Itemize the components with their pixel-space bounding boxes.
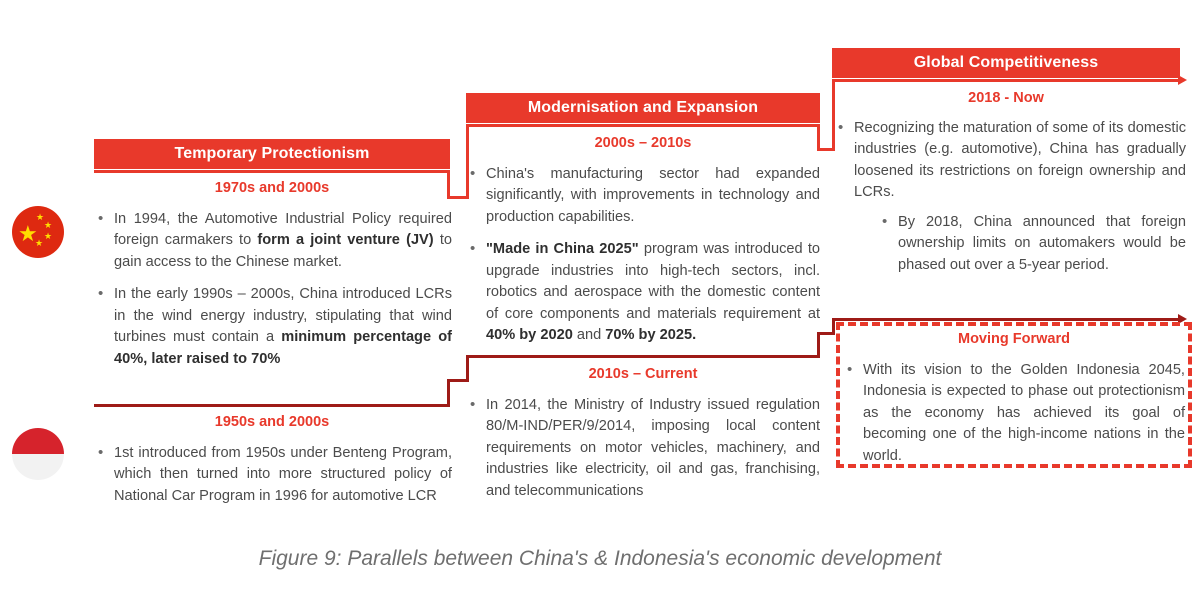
connector-line-id2-top [466, 355, 820, 358]
stage-header-modernisation-and-expansion[interactable]: Modernisation and Expansion [466, 93, 820, 123]
indonesia-flag-red-band [12, 428, 64, 454]
list-item-sub: By 2018, China announced that foreign ow… [880, 212, 1186, 276]
list-item: Recognizing the maturation of some of it… [836, 118, 1186, 204]
connector-line-id3-top [832, 318, 1180, 321]
list-item: China's manufacturing sector had expande… [468, 164, 820, 228]
connector-line-id1-top [94, 404, 450, 407]
indonesia-flag-white-band [12, 454, 64, 480]
stage-era-temporary-protectionism: 1970s and 2000s [94, 180, 450, 196]
stage-era-indonesia-early: 1950s and 2000s [94, 414, 450, 430]
stage-body-indonesia-early: 1st introduced from 1950s under Benteng … [96, 443, 452, 507]
connector-line-stage1-top [94, 170, 450, 173]
indonesia-flag-icon [12, 428, 64, 480]
list-item: "Made in China 2025" program was introdu… [468, 239, 820, 346]
list-item: In the early 1990s – 2000s, China introd… [96, 284, 452, 370]
stage-body-modernisation-and-expansion: China's manufacturing sector had expande… [468, 164, 820, 347]
stage-header-temporary-protectionism[interactable]: Temporary Protectionism [94, 139, 450, 169]
stage-era-global-competitiveness: 2018 - Now [832, 90, 1180, 106]
stage-era-indonesia-current: 2010s – Current [466, 366, 820, 382]
connector-line-stage2-top [466, 124, 820, 127]
bullet-list: China's manufacturing sector had expande… [468, 164, 820, 347]
stage-body-indonesia-current: In 2014, the Ministry of Industry issued… [468, 395, 820, 502]
bullet-list: In 2014, the Ministry of Industry issued… [468, 395, 820, 502]
list-item: In 1994, the Automotive Industrial Polic… [96, 209, 452, 273]
list-item: In 2014, the Ministry of Industry issued… [468, 395, 820, 502]
figure-caption: Figure 9: Parallels between China's & In… [0, 547, 1200, 571]
stage-body-global-competitiveness: Recognizing the maturation of some of it… [836, 118, 1186, 276]
list-item: 1st introduced from 1950s under Benteng … [96, 443, 452, 507]
connector-line-stage3-top [832, 79, 1180, 82]
bullet-list: 1st introduced from 1950s under Benteng … [96, 443, 452, 507]
china-flag-icon: ★ ★ ★ ★ ★ [12, 206, 64, 258]
stage-era-modernisation-and-expansion: 2000s – 2010s [466, 135, 820, 151]
stage-body-moving-forward: With its vision to the Golden Indonesia … [845, 360, 1185, 467]
stage-body-temporary-protectionism: In 1994, the Automotive Industrial Polic… [96, 209, 452, 370]
stage-header-global-competitiveness[interactable]: Global Competitiveness [832, 48, 1180, 78]
bullet-list: Recognizing the maturation of some of it… [836, 118, 1186, 276]
bullet-list: With its vision to the Golden Indonesia … [845, 360, 1185, 467]
figure-canvas: ★ ★ ★ ★ ★ Temporary Protectionism 1970s … [0, 0, 1200, 616]
bullet-list: In 1994, the Automotive Industrial Polic… [96, 209, 452, 370]
connector-line-id1-right-vert [447, 379, 450, 407]
stage-era-moving-forward: Moving Forward [836, 331, 1192, 347]
list-item: With its vision to the Golden Indonesia … [845, 360, 1185, 467]
